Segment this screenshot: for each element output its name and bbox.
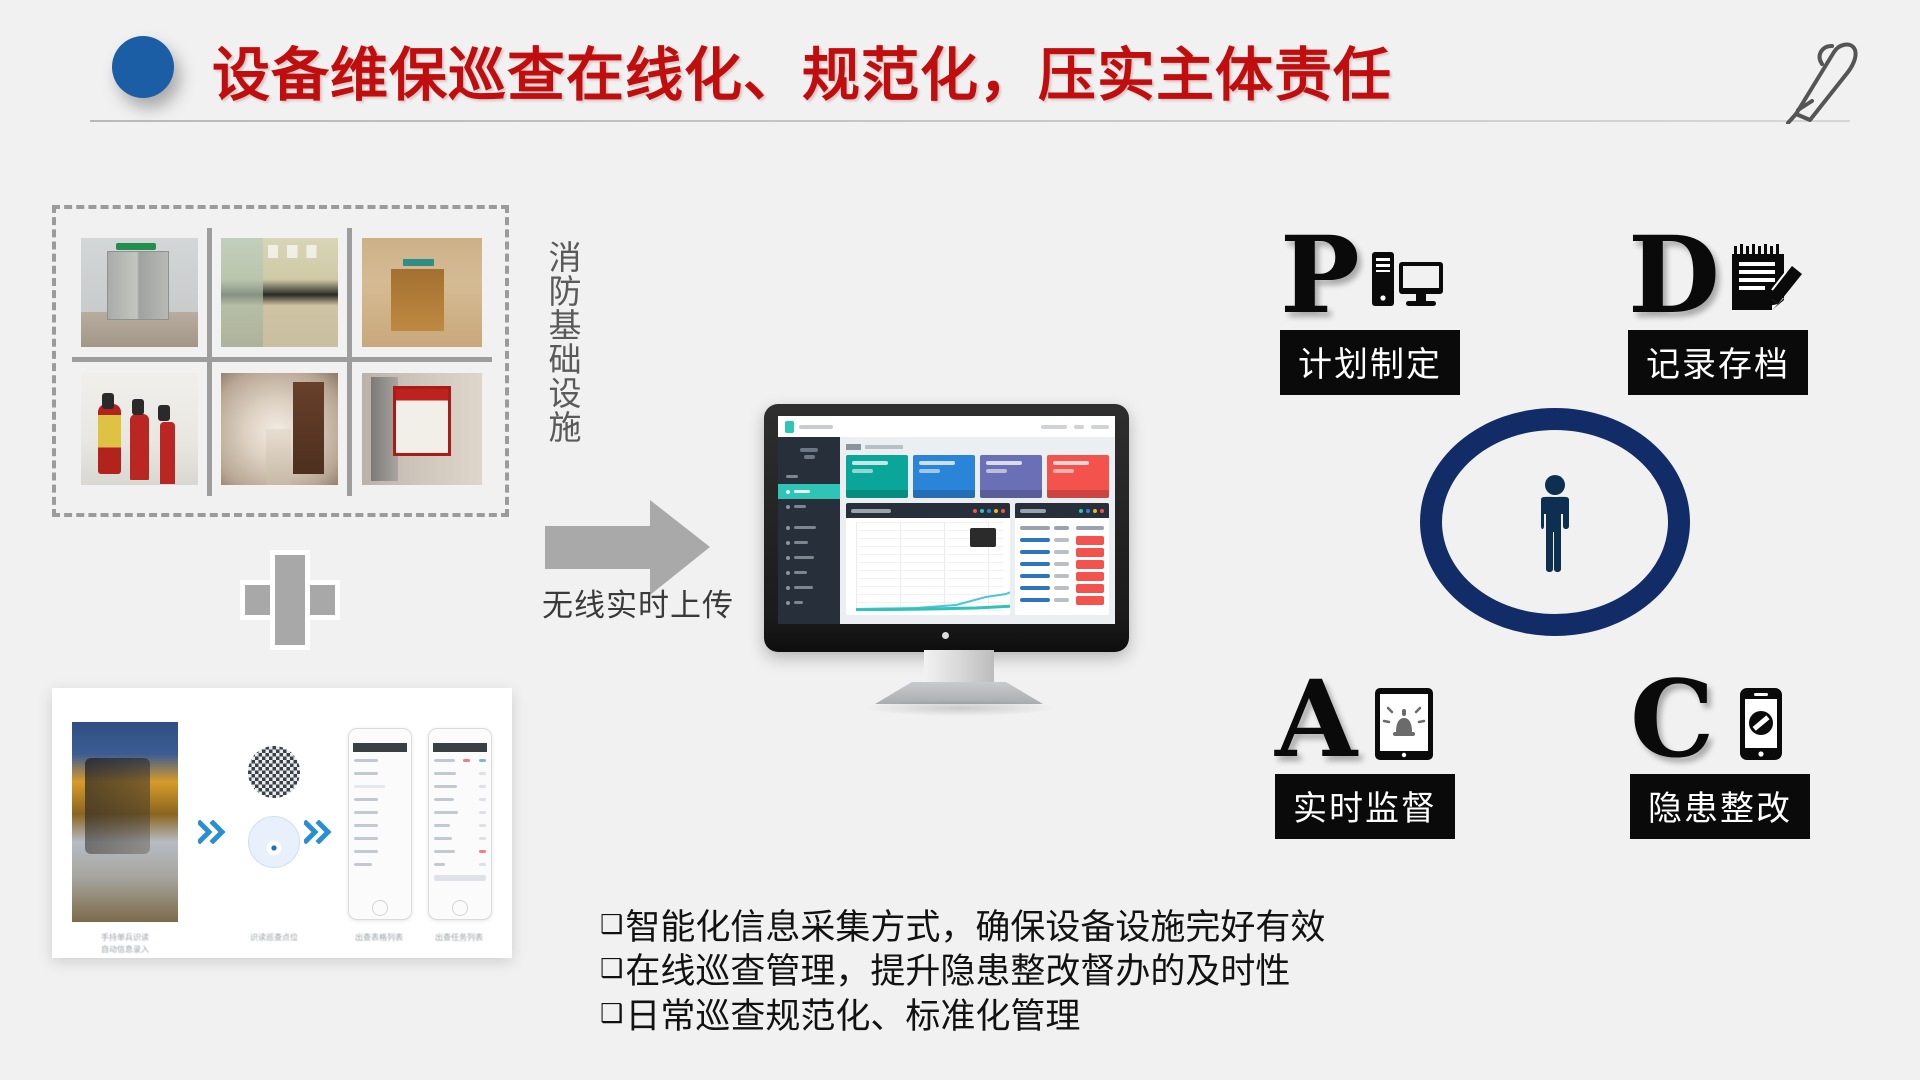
slide-canvas: 设备维保巡查在线化、规范化，压实主体责任 消防基础设施 — [0, 0, 1920, 1080]
line-chart-panel-header — [846, 503, 1010, 518]
line-chart-body — [846, 518, 1010, 615]
table-row[interactable] — [1020, 534, 1104, 546]
hotel-corridor-photo — [221, 373, 337, 486]
pdca-letter-p: P — [1280, 229, 1360, 320]
plus-icon — [240, 550, 340, 650]
mobile-card-caption-1: 手持单兵识读 自动信息录入 — [72, 932, 178, 955]
line-chart-panel — [846, 503, 1010, 615]
pdca-do: D 记录存档 — [1628, 212, 1808, 395]
bullet-text-2: 在线巡查管理，提升隐患整改督办的及时性 — [625, 950, 1290, 994]
alert-table-panel — [1015, 503, 1109, 615]
table-header-row — [1020, 522, 1104, 534]
monitor-stand-neck — [924, 650, 994, 684]
mobile-card-caption-4: 出查任务列表 — [414, 932, 504, 944]
tablet-alarm-icon — [1365, 682, 1443, 764]
shopping-corridor-photo — [221, 238, 337, 346]
dashboard-topbar — [778, 416, 1115, 438]
pdca-do-row: D — [1628, 212, 1808, 320]
mobile-card-caption-3: 出查表格列表 — [334, 932, 424, 944]
dashboard-sidebar-item[interactable] — [778, 580, 840, 595]
desktop-monitor — [764, 404, 1129, 652]
table-row[interactable] — [1020, 594, 1104, 606]
bullet-marker-icon: ❑ — [600, 906, 623, 945]
desktop-computer-icon — [1368, 238, 1446, 320]
pdca-letter-a: A — [1275, 673, 1357, 764]
kpi-card-2[interactable] — [913, 455, 975, 498]
header-divider — [90, 120, 1850, 122]
bullet-list: ❑ 智能化信息采集方式，确保设备设施完好有效 ❑ 在线巡查管理，提升隐患整改督办… — [600, 906, 1550, 1039]
photo-cell-fire-door — [72, 228, 212, 362]
alert-table-body — [1015, 518, 1109, 610]
dashboard-logo-icon — [785, 421, 794, 433]
dashboard-logo-text — [799, 425, 833, 429]
fire-hose-cabinet-photo — [362, 373, 482, 486]
upload-arrow-label: 无线实时上传 — [533, 580, 743, 625]
double-chevron-right-icon — [198, 820, 228, 844]
elevator-photo — [362, 238, 482, 346]
dashboard-sidebar-item[interactable] — [778, 565, 840, 580]
alert-table-panel-header — [1015, 503, 1109, 518]
bullet-marker-icon: ❑ — [600, 995, 623, 1034]
bullet-marker-icon: ❑ — [600, 950, 623, 989]
pdca-letter-c: C — [1630, 673, 1714, 764]
dashboard-breadcrumb — [846, 442, 1109, 451]
notepad-pencil-icon — [1728, 238, 1806, 320]
nfc-icon — [248, 816, 300, 868]
photo-cell-hotel-corridor — [212, 362, 352, 496]
dashboard-sidebar-item[interactable] — [778, 469, 840, 484]
monitor-power-indicator — [942, 632, 949, 639]
photo-cell-shopping-corridor — [212, 228, 352, 362]
bullet-text-1: 智能化信息采集方式，确保设备设施完好有效 — [625, 906, 1325, 950]
qr-code-icon — [248, 746, 300, 798]
mobile-card-caption-2: 识读巡查点位 — [224, 932, 324, 944]
phone-mockup-list[interactable] — [348, 728, 412, 920]
inspector-photo — [72, 722, 178, 922]
dashboard-sidebar-item-active[interactable] — [778, 484, 840, 499]
page-title: 设备维保巡查在线化、规范化，压实主体责任 — [212, 28, 1392, 112]
bullet-item-1: ❑ 智能化信息采集方式，确保设备设施完好有效 — [600, 906, 1550, 950]
kpi-card-1[interactable] — [846, 455, 908, 498]
photo-cell-hose-cabinet — [352, 362, 492, 496]
pdca-check-row: C — [1630, 656, 1810, 764]
table-row[interactable] — [1020, 558, 1104, 570]
dashboard-panels — [846, 503, 1109, 615]
table-row[interactable] — [1020, 546, 1104, 558]
kpi-card-4[interactable] — [1047, 455, 1109, 498]
dashboard-sidebar-item[interactable] — [778, 499, 840, 514]
smartphone-prohibited-icon — [1722, 682, 1800, 764]
bullet-text-3: 日常巡查规范化、标准化管理 — [625, 995, 1080, 1039]
photo-grid-vertical-label: 消防基础设施 — [533, 240, 579, 444]
pdca-letter-d: D — [1628, 229, 1720, 320]
fire-door-photo — [81, 238, 197, 346]
pdca-do-label: 记录存档 — [1628, 330, 1808, 395]
fire-extinguisher-photo — [81, 373, 197, 486]
photo-cell-extinguisher — [72, 362, 212, 496]
double-chevron-right-icon — [304, 820, 334, 844]
dashboard-sidebar-header — [778, 437, 840, 469]
kpi-card-3[interactable] — [980, 455, 1042, 498]
chart-line-series — [856, 539, 1010, 611]
pen-icon — [1760, 24, 1870, 124]
blue-circle-bullet-icon — [112, 36, 174, 98]
table-row[interactable] — [1020, 570, 1104, 582]
bullet-item-3: ❑ 日常巡查规范化、标准化管理 — [600, 995, 1550, 1039]
table-row[interactable] — [1020, 582, 1104, 594]
pdca-check: C 隐患整改 — [1630, 656, 1810, 839]
pdca-act-row: A — [1275, 656, 1455, 764]
person-icon — [1533, 474, 1577, 574]
dashboard-kpi-row — [846, 455, 1109, 498]
pdca-act: A 实时监督 — [1275, 656, 1455, 839]
dashboard-sidebar-item[interactable] — [778, 535, 840, 550]
pdca-plan-row: P — [1280, 212, 1460, 320]
dashboard-topbar-actions[interactable] — [1041, 425, 1109, 429]
pdca-act-label: 实时监督 — [1275, 774, 1455, 839]
pdca-check-label: 隐患整改 — [1630, 774, 1810, 839]
monitor-screen — [778, 416, 1115, 624]
dashboard-main — [840, 437, 1115, 624]
bullet-item-2: ❑ 在线巡查管理，提升隐患整改督办的及时性 — [600, 950, 1550, 994]
dashboard-sidebar-item[interactable] — [778, 550, 840, 565]
pdca-plan-label: 计划制定 — [1280, 330, 1460, 395]
dashboard-sidebar[interactable] — [778, 437, 840, 624]
mobile-workflow-card: 手持单兵识读 自动信息录入 识读巡查点位 出查表格列表 出查任务列表 — [52, 688, 512, 958]
pdca-plan: P 计划制定 — [1280, 212, 1460, 395]
photo-grid — [72, 228, 492, 496]
dashboard-sidebar-item[interactable] — [778, 595, 840, 610]
phone-mockup-detail[interactable] — [428, 728, 492, 920]
photo-cell-elevator — [352, 228, 492, 362]
monitor-shadow — [866, 700, 1054, 716]
dashboard-sidebar-item[interactable] — [778, 520, 840, 535]
